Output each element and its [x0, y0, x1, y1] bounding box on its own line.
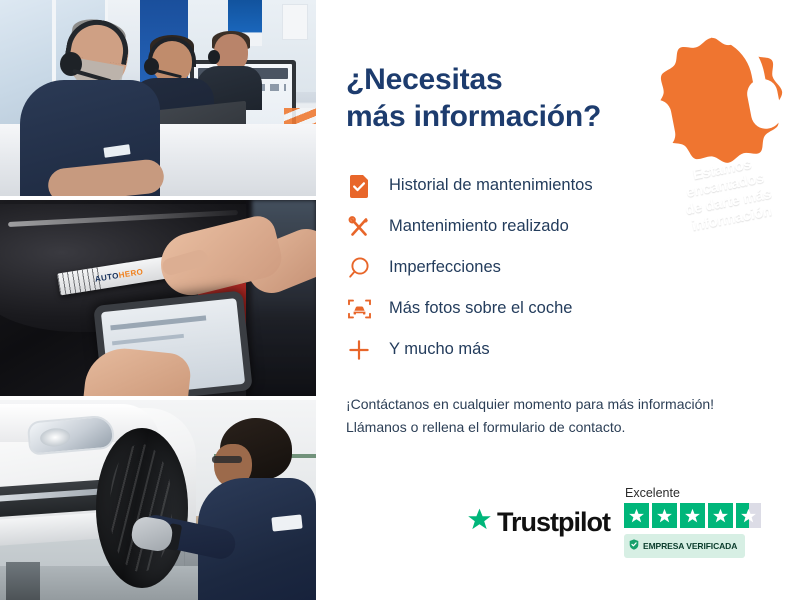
- wall-poster-secondary: [282, 4, 308, 40]
- heading-line-2: más información?: [346, 100, 601, 133]
- ruler-brand-text: AUTOHERO: [94, 267, 144, 284]
- feature-label: Imperfecciones: [389, 258, 501, 278]
- support-starburst-badge: Estamos encantados de darte más informac…: [632, 34, 790, 192]
- mechanic-glasses: [212, 456, 242, 463]
- badge-content: Estamos encantados de darte más informac…: [618, 20, 800, 205]
- verified-label: EMPRESA VERIFICADA: [643, 541, 737, 551]
- brand-part-hero: HERO: [118, 267, 144, 280]
- feature-item-much-more: Y mucho más: [346, 337, 766, 363]
- star-filled: [680, 503, 705, 528]
- rating-label: Excelente: [625, 486, 680, 500]
- contact-line-2: Llámanos o rellena el formulario de cont…: [346, 416, 766, 439]
- trustpilot-logo[interactable]: Trustpilot: [466, 507, 610, 538]
- shield-check-icon: [629, 537, 639, 555]
- tools-icon: [346, 214, 372, 240]
- page-title: ¿Necesitas más información?: [346, 62, 646, 135]
- contact-text: ¡Contáctanos en cualquier momento para m…: [346, 393, 766, 438]
- plus-icon: [346, 337, 372, 363]
- feature-label: Más fotos sobre el coche: [389, 299, 572, 319]
- call-center-agents-photo: [0, 0, 316, 196]
- car-photo-icon: [346, 296, 372, 322]
- verified-business-badge: EMPRESA VERIFICADA: [624, 534, 745, 558]
- magnifier-icon: [346, 255, 372, 281]
- car-inspection-ruler-photo: AUTOHERO: [0, 200, 316, 396]
- contact-line-1: ¡Contáctanos en cualquier momento para m…: [346, 393, 766, 416]
- mechanic-person: [196, 418, 316, 600]
- trustpilot-widget[interactable]: Trustpilot Excelente: [466, 486, 761, 558]
- mechanic-wheel-check-photo: [0, 400, 316, 600]
- star-filled: [708, 503, 733, 528]
- information-promo-card: AUTOHERO: [0, 0, 800, 600]
- star-filled: [624, 503, 649, 528]
- trustpilot-rating: Excelente: [624, 486, 761, 558]
- car-tyre: [96, 428, 188, 588]
- star-rating: [624, 503, 761, 528]
- content-panel: ¿Necesitas más información? Estamos enca…: [316, 0, 800, 600]
- star-half: [736, 503, 761, 528]
- feature-label: Y mucho más: [389, 340, 490, 360]
- trustpilot-brand-name: Trustpilot: [497, 507, 610, 538]
- headset-icon: [612, 0, 797, 175]
- brand-part-auto: AUTO: [94, 271, 119, 284]
- car-lift-post: [6, 562, 40, 600]
- feature-item-more-photos: Más fotos sobre el coche: [346, 296, 766, 322]
- trustpilot-star-icon: [466, 507, 493, 538]
- heading-line-1: ¿Necesitas: [346, 63, 502, 96]
- feature-label: Mantenimiento realizado: [389, 217, 569, 237]
- feature-item-imperfections: Imperfecciones: [346, 255, 766, 281]
- photo-column: AUTOHERO: [0, 0, 316, 600]
- star-filled: [652, 503, 677, 528]
- agent-foreground: [20, 22, 160, 196]
- feature-label: Historial de mantenimientos: [389, 176, 593, 196]
- document-check-icon: [346, 173, 372, 199]
